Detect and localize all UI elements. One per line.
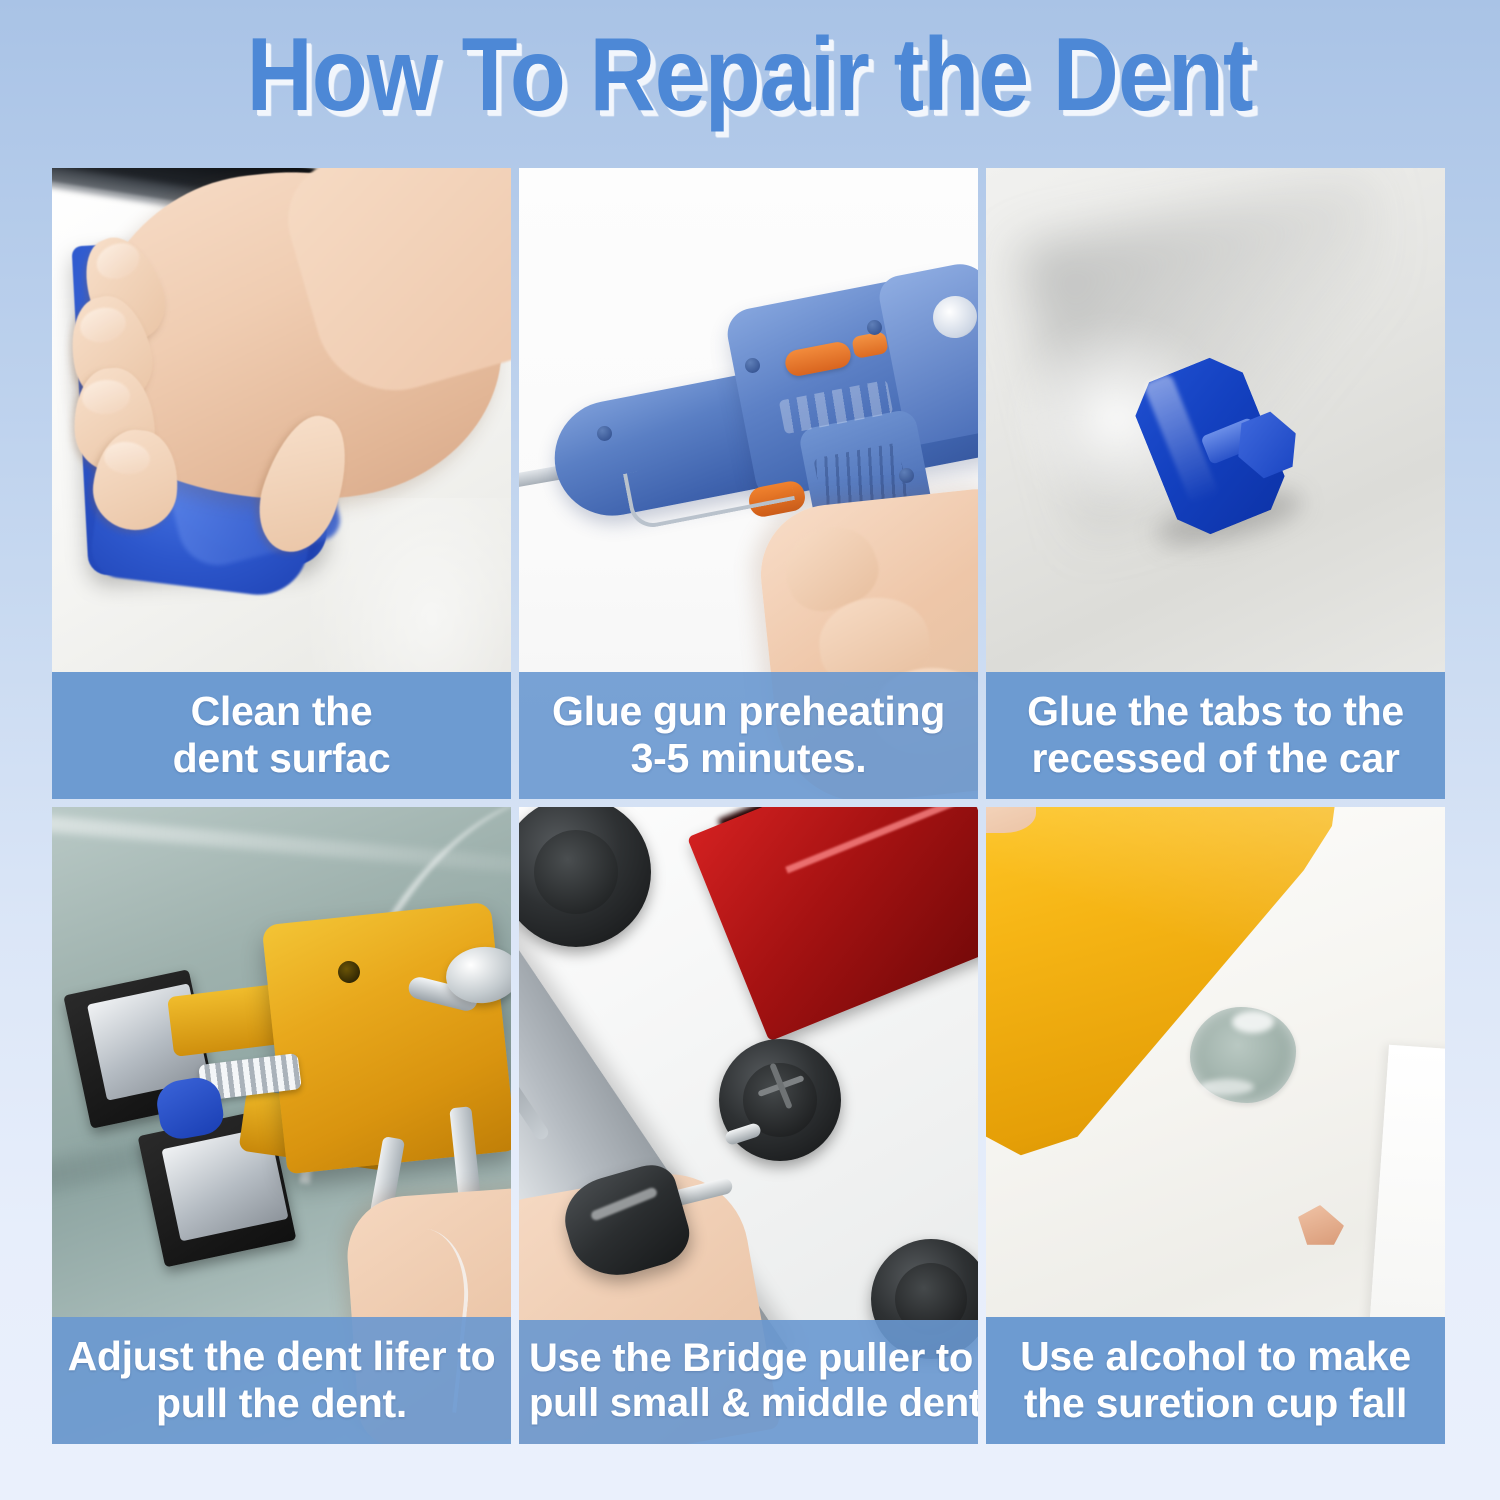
step-card-5[interactable]: Use the Bridge puller to pull small & mi… (519, 807, 978, 1444)
step-caption-3-line-1: Glue the tabs to the (996, 688, 1435, 734)
alcohol-spot-highlight-1 (1232, 1011, 1274, 1033)
bridge-puller-foot-1 (519, 807, 651, 947)
step-caption-3: Glue the tabs to the recessed of the car (986, 672, 1445, 799)
steps-grid: Clean the dent surfac (52, 168, 1432, 1452)
paint-chip-shape (1298, 1205, 1344, 1245)
step-caption-4: Adjust the dent lifer to pull the dent. (52, 1317, 511, 1444)
step-caption-6: Use alcohol to make the suretion cup fal… (986, 1317, 1445, 1444)
step-card-1[interactable]: Clean the dent surfac (52, 168, 511, 799)
step-card-6[interactable]: Use alcohol to make the suretion cup fal… (986, 807, 1445, 1444)
step-card-3[interactable]: Glue the tabs to the recessed of the car (986, 168, 1445, 799)
header: How To Repair the Dent (0, 0, 1500, 150)
step-caption-5-line-2: pull small & middle dent (529, 1381, 968, 1426)
step-caption-2-line-2: 3-5 minutes. (529, 735, 968, 781)
step-card-4[interactable]: Adjust the dent lifer to pull the dent. (52, 807, 511, 1444)
step-caption-6-line-1: Use alcohol to make (996, 1333, 1435, 1379)
alcohol-spot-highlight-2 (1200, 1079, 1254, 1095)
step-caption-1-line-1: Clean the (62, 688, 501, 734)
step-caption-1: Clean the dent surfac (52, 672, 511, 799)
yellow-scraper-highlight (986, 807, 1336, 1159)
step-caption-6-line-2: the suretion cup fall (996, 1380, 1435, 1426)
step-caption-4-line-2: pull the dent. (62, 1380, 501, 1426)
step-caption-2-line-1: Glue gun preheating (529, 688, 968, 734)
step-caption-1-line-2: dent surfac (62, 735, 501, 781)
step-card-2[interactable]: Glue gun preheating 3-5 minutes. (519, 168, 978, 799)
step-caption-2: Glue gun preheating 3-5 minutes. (519, 672, 978, 799)
page-title: How To Repair the Dent (247, 23, 1253, 127)
car-taillight-shape (687, 807, 978, 1041)
screw-shape-4 (899, 468, 914, 483)
step-caption-4-line-1: Adjust the dent lifer to (62, 1333, 501, 1379)
screw-shape-3 (867, 320, 882, 335)
step-caption-5: Use the Bridge puller to pull small & mi… (519, 1320, 978, 1444)
step-caption-3-line-2: recessed of the car (996, 735, 1435, 781)
screw-shape-2 (745, 358, 760, 373)
step-caption-5-line-1: Use the Bridge puller to (529, 1336, 968, 1381)
bridge-puller-foot-1-inner (534, 830, 618, 914)
screw-shape-1 (597, 426, 612, 441)
